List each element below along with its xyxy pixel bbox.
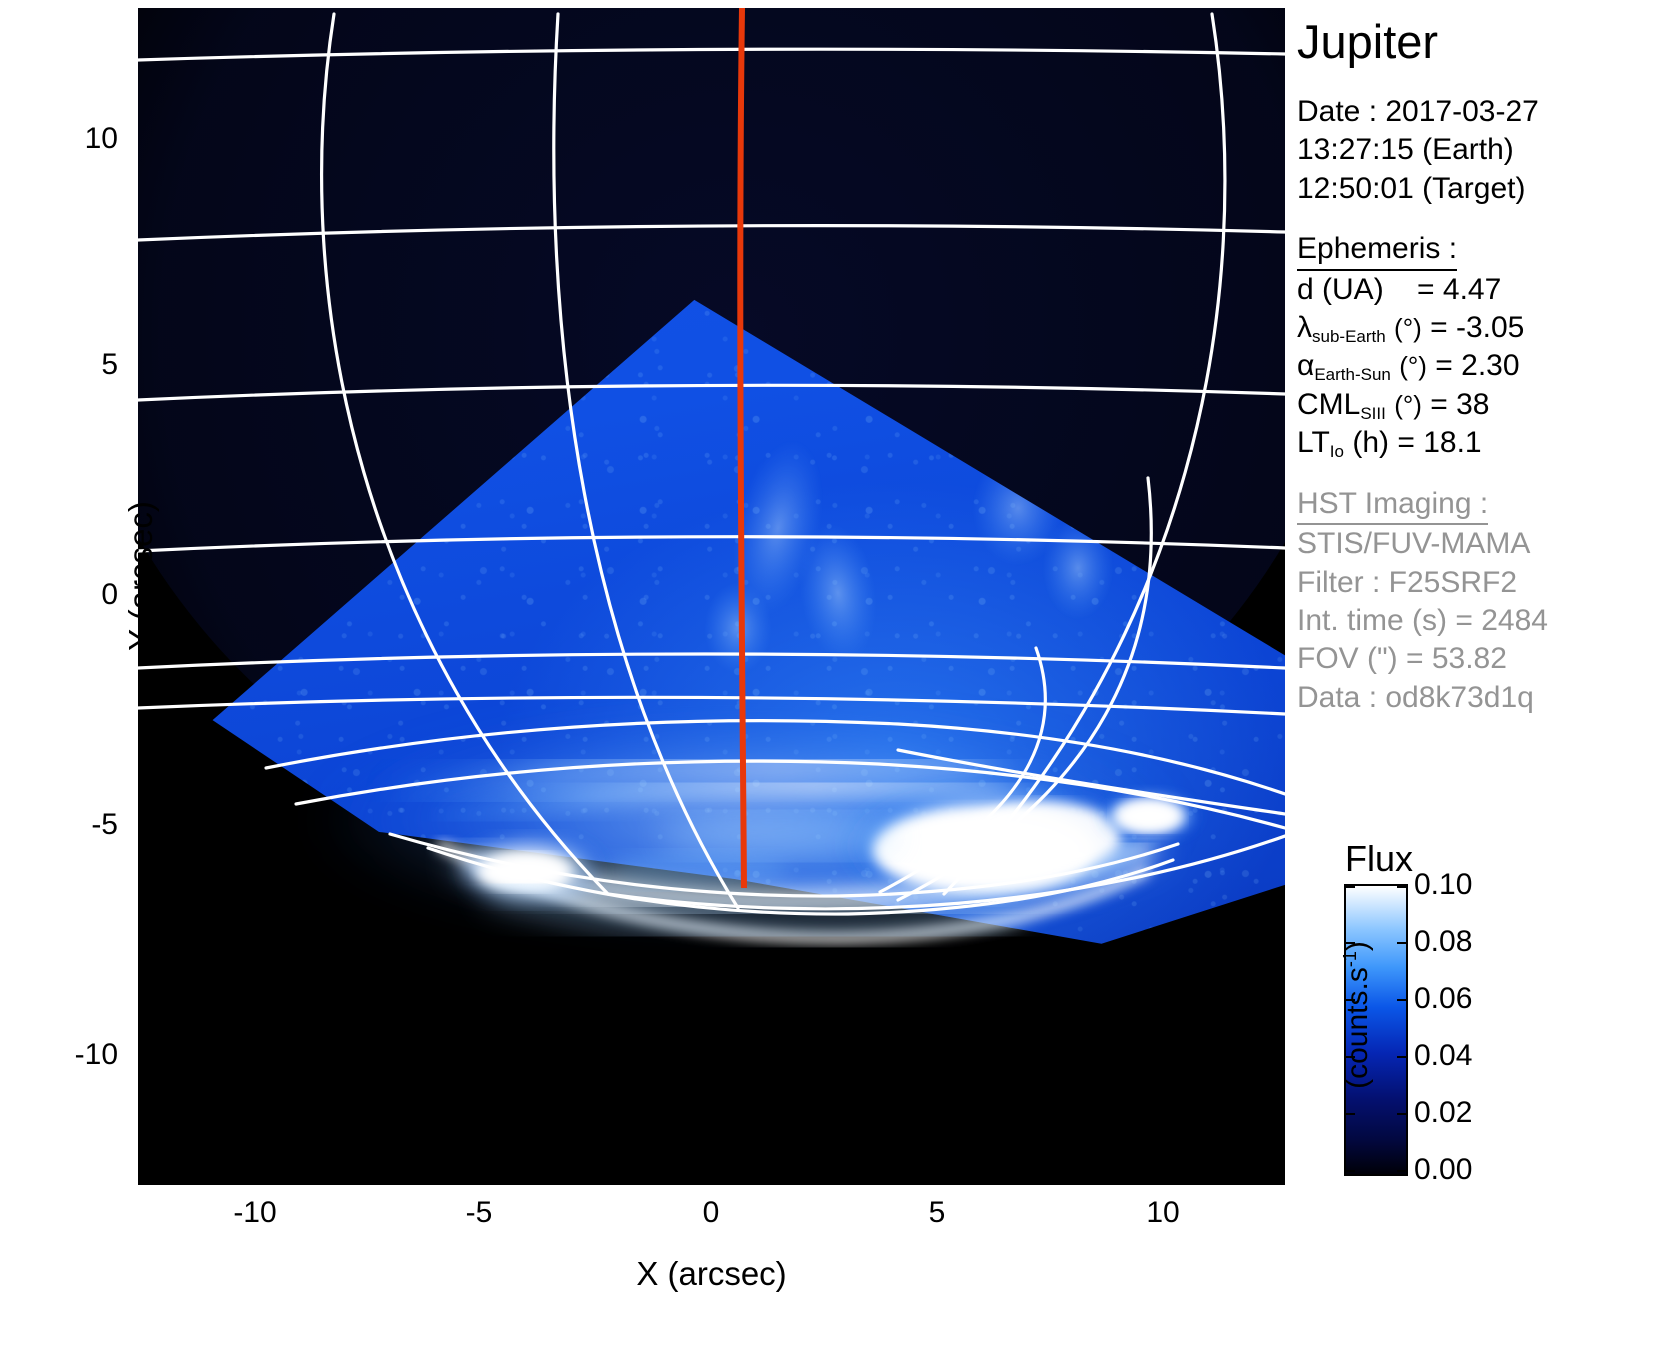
colorbar-tick bbox=[1397, 886, 1406, 888]
ephemeris-value-cml: = 38 bbox=[1430, 388, 1489, 421]
hst-data-id: Data : od8k73d1q bbox=[1297, 679, 1677, 717]
observation-time-earth: 13:27:15 (Earth) bbox=[1297, 131, 1677, 169]
meridian-line bbox=[944, 14, 1225, 894]
planetographic-grid bbox=[138, 8, 1285, 1185]
ephemeris-value-d: = 4.47 bbox=[1417, 273, 1501, 306]
ephemeris-row-distance: d (UA) = 4.47 bbox=[1297, 271, 1677, 309]
ephemeris-symbol-alpha: α bbox=[1297, 349, 1314, 382]
colorbar-tick bbox=[1397, 1113, 1406, 1115]
ephemeris-symbol-lambda: λ bbox=[1297, 311, 1312, 344]
ephemeris-subscript-io: Io bbox=[1330, 442, 1344, 461]
ephemeris-unit-alpha: (°) bbox=[1399, 351, 1427, 381]
y-tick-5: 5 bbox=[28, 348, 118, 382]
ephemeris-row-io-local-time: LTIo (h) = 18.1 bbox=[1297, 424, 1677, 462]
colorbar-tick bbox=[1397, 942, 1406, 944]
ephemeris-row-cml: CMLSIII (°) = 38 bbox=[1297, 386, 1677, 424]
ephemeris-row-phase-angle: αEarth-Sun (°) = 2.30 bbox=[1297, 347, 1677, 385]
y-tick-10: 10 bbox=[28, 122, 118, 156]
aurora-image-panel bbox=[138, 8, 1285, 1185]
target-title: Jupiter bbox=[1297, 18, 1677, 65]
hst-fov: FOV (") = 53.82 bbox=[1297, 640, 1677, 678]
colorbar-label-008: 0.08 bbox=[1414, 925, 1472, 959]
x-tick-5: 5 bbox=[892, 1196, 982, 1230]
ephemeris-unit-lt: (h) bbox=[1352, 426, 1389, 459]
latitude-line bbox=[138, 226, 1285, 240]
colorbar-tick bbox=[1397, 999, 1406, 1001]
latitude-line bbox=[138, 537, 1285, 551]
x-tick-10: 10 bbox=[1118, 1196, 1208, 1230]
ephemeris-unit-cml: (°) bbox=[1394, 390, 1422, 420]
ephemeris-subscript-earth-sun: Earth-Sun bbox=[1314, 365, 1391, 384]
colorbar-tick bbox=[1397, 1170, 1406, 1172]
y-tick-0: 0 bbox=[28, 578, 118, 612]
hst-integration-time: Int. time (s) = 2484 bbox=[1297, 602, 1677, 640]
latitude-line bbox=[390, 834, 1178, 896]
colorbar-label-004: 0.04 bbox=[1414, 1039, 1472, 1073]
ephemeris-subscript-siii: SIII bbox=[1360, 404, 1386, 423]
colorbar-unit-paren: ) bbox=[1341, 941, 1374, 951]
y-tick-neg10: -10 bbox=[28, 1038, 118, 1072]
colorbar-label-002: 0.02 bbox=[1414, 1096, 1472, 1130]
ephemeris-unit-lambda: (°) bbox=[1394, 313, 1422, 343]
y-axis-title: Y (arcsec) bbox=[122, 426, 160, 726]
latitude-line bbox=[296, 761, 1285, 828]
y-tick-neg5: -5 bbox=[28, 808, 118, 842]
figure-root: 10 5 0 -5 -10 Y (arcsec) -10 -5 0 5 10 X… bbox=[0, 0, 1677, 1368]
ephemeris-value-lt: = 18.1 bbox=[1397, 426, 1481, 459]
meridian-line bbox=[322, 14, 608, 894]
x-tick-neg5: -5 bbox=[434, 1196, 524, 1230]
ephemeris-row-sub-earth-latitude: λsub-Earth (°) = -3.05 bbox=[1297, 309, 1677, 347]
colorbar-label-010: 0.10 bbox=[1414, 868, 1472, 902]
x-tick-neg10: -10 bbox=[210, 1196, 300, 1230]
colorbar-label-000: 0.00 bbox=[1414, 1153, 1472, 1187]
hst-imaging-header: HST Imaging : bbox=[1297, 485, 1488, 526]
colorbar-label-006: 0.06 bbox=[1414, 982, 1472, 1016]
latitude-line bbox=[138, 49, 1285, 60]
meridian-line bbox=[554, 14, 738, 908]
hst-instrument: STIS/FUV-MAMA bbox=[1297, 525, 1677, 563]
ephemeris-symbol-lt: LT bbox=[1297, 426, 1330, 459]
x-axis-title: X (arcsec) bbox=[138, 1255, 1285, 1293]
ephemeris-value-alpha: = 2.30 bbox=[1435, 349, 1519, 382]
colorbar-tick bbox=[1397, 1056, 1406, 1058]
observation-time-target: 12:50:01 (Target) bbox=[1297, 170, 1677, 208]
observation-date: Date : 2017-03-27 bbox=[1297, 93, 1677, 131]
ephemeris-unit-d: (UA) bbox=[1322, 273, 1384, 306]
meridian-line bbox=[898, 750, 1285, 814]
colorbar-unit-text: (counts.s bbox=[1341, 967, 1374, 1089]
ephemeris-value-lambda: = -3.05 bbox=[1430, 311, 1524, 344]
x-tick-0: 0 bbox=[666, 1196, 756, 1230]
ephemeris-header: Ephemeris : bbox=[1297, 230, 1457, 271]
hst-filter: Filter : F25SRF2 bbox=[1297, 564, 1677, 602]
latitude-line bbox=[138, 385, 1285, 400]
cml-meridian-line bbox=[740, 8, 744, 888]
info-panel: Jupiter Date : 2017-03-27 13:27:15 (Eart… bbox=[1297, 0, 1677, 717]
ephemeris-subscript-sub-earth: sub-Earth bbox=[1312, 327, 1386, 346]
latitude-line bbox=[428, 848, 1173, 914]
ephemeris-symbol-cml: CML bbox=[1297, 388, 1360, 421]
colorbar-unit-exponent: -1 bbox=[1340, 951, 1360, 967]
colorbar-tick bbox=[1346, 1170, 1355, 1172]
colorbar-unit-label: (counts.s-1) bbox=[1340, 865, 1375, 1165]
ephemeris-symbol-d: d bbox=[1297, 273, 1314, 306]
